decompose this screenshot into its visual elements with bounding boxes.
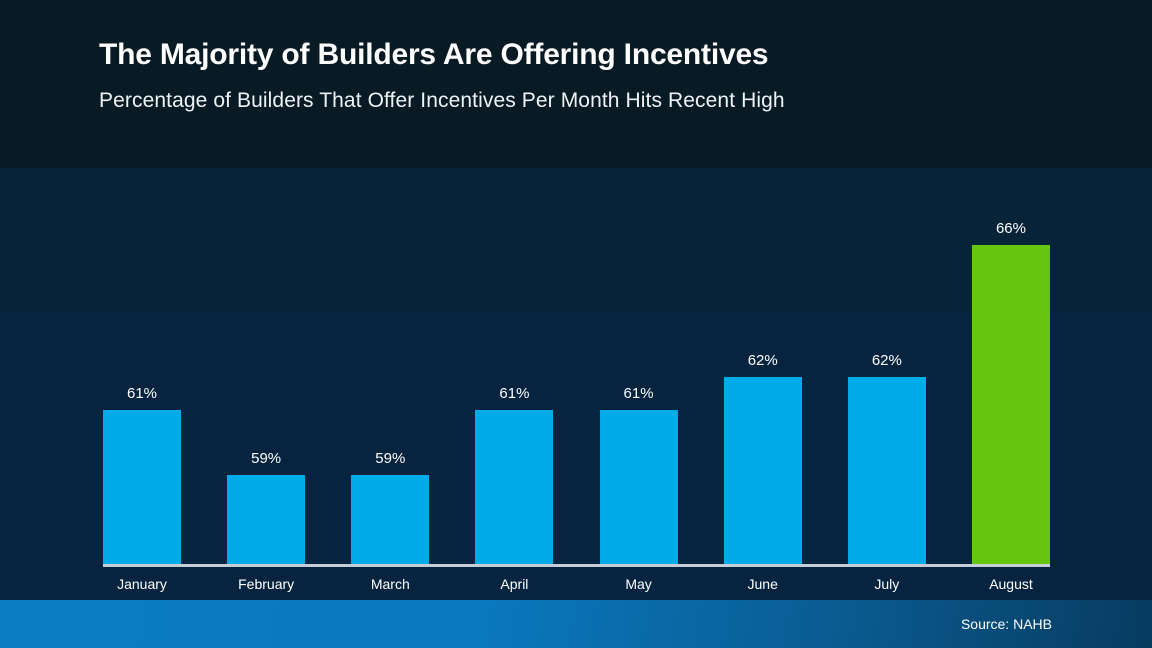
bar-group-may: 61% [600, 186, 678, 564]
x-axis-category-labels: JanuaryFebruaryMarchAprilMayJuneJulyAugu… [103, 576, 1050, 602]
category-label-june: June [724, 576, 802, 602]
category-label-august: August [972, 576, 1050, 602]
category-label-april: April [475, 576, 553, 602]
bar-value-label: 61% [127, 385, 157, 402]
x-axis-line [103, 564, 1050, 567]
bar-value-label: 59% [375, 450, 405, 467]
bar-group-july: 62% [848, 186, 926, 564]
source-attribution: Source: NAHB [961, 616, 1052, 632]
bar-february [227, 475, 305, 564]
bar-group-march: 59% [351, 186, 429, 564]
category-label-february: February [227, 576, 305, 602]
bar-value-label: 66% [996, 220, 1026, 237]
chart-plot-area: 61%59%59%61%61%62%62%66% [103, 186, 1050, 564]
category-label-may: May [600, 576, 678, 602]
bar-april [475, 410, 553, 564]
bar-value-label: 62% [872, 352, 902, 369]
bar-series: 61%59%59%61%61%62%62%66% [103, 186, 1050, 564]
bar-may [600, 410, 678, 564]
footer-bar: Source: NAHB [0, 600, 1152, 648]
bar-august [972, 245, 1050, 564]
bar-group-june: 62% [724, 186, 802, 564]
bar-group-january: 61% [103, 186, 181, 564]
bar-january [103, 410, 181, 564]
bar-value-label: 61% [624, 385, 654, 402]
bar-june [724, 377, 802, 564]
page-subtitle: Percentage of Builders That Offer Incent… [99, 89, 1059, 113]
bar-march [351, 475, 429, 564]
bar-group-august: 66% [972, 186, 1050, 564]
page-title: The Majority of Builders Are Offering In… [99, 38, 1059, 71]
bar-group-april: 61% [475, 186, 553, 564]
bar-value-label: 59% [251, 450, 281, 467]
infographic-slide: The Majority of Builders Are Offering In… [0, 0, 1152, 648]
bar-value-label: 62% [748, 352, 778, 369]
category-label-january: January [103, 576, 181, 602]
bar-value-label: 61% [499, 385, 529, 402]
category-label-july: July [848, 576, 926, 602]
bar-group-february: 59% [227, 186, 305, 564]
header: The Majority of Builders Are Offering In… [99, 38, 1059, 113]
category-label-march: March [351, 576, 429, 602]
bar-july [848, 377, 926, 564]
